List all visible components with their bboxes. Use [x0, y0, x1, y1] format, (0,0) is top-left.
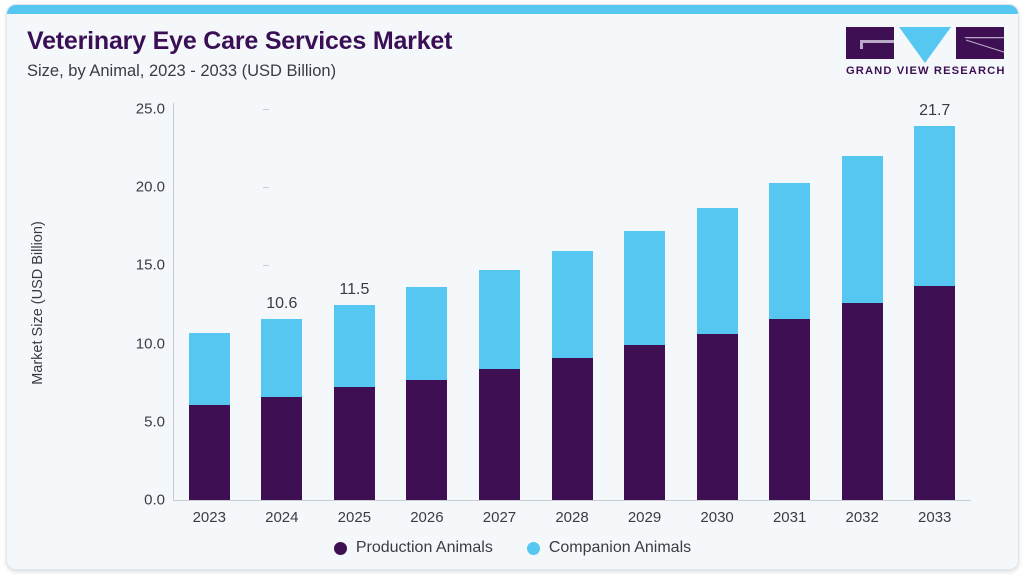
x-axis-tick-label: 2029 — [628, 509, 661, 526]
bar-segment-production-animals[interactable] — [189, 405, 230, 500]
legend-item[interactable]: Companion Animals — [527, 539, 691, 557]
bar-segment-production-animals[interactable] — [842, 303, 883, 500]
y-axis-tick-label: 25.0 — [136, 101, 165, 118]
bar-segment-companion-animals[interactable] — [914, 126, 955, 286]
x-axis-tick-label: 2031 — [773, 509, 806, 526]
y-axis-tick-label: 10.0 — [136, 335, 165, 352]
bar-stack[interactable] — [624, 231, 665, 500]
legend-item[interactable]: Production Animals — [334, 539, 493, 557]
y-axis-tick-mark — [263, 265, 269, 266]
y-axis-line — [173, 103, 174, 501]
bar-segment-companion-animals[interactable] — [334, 305, 375, 388]
bar-value-label: 10.6 — [266, 295, 297, 313]
bar-stack[interactable]: 11.5 — [334, 305, 375, 501]
y-axis-tick-mark — [263, 500, 269, 501]
bar-segment-companion-animals[interactable] — [479, 270, 520, 369]
bar-stack[interactable] — [842, 156, 883, 500]
bar-segment-production-animals[interactable] — [697, 334, 738, 500]
bar-segment-production-animals[interactable] — [769, 319, 810, 500]
x-axis-tick-label: 2032 — [845, 509, 878, 526]
bar-stack[interactable]: 10.6 — [261, 319, 302, 500]
x-axis-tick-label: 2030 — [700, 509, 733, 526]
bar-segment-companion-animals[interactable] — [842, 156, 883, 303]
bar-value-label: 11.5 — [339, 281, 369, 299]
bar-stack[interactable] — [769, 183, 810, 500]
bar-segment-companion-animals[interactable] — [697, 208, 738, 335]
bar-segment-production-animals[interactable] — [624, 345, 665, 500]
bar-value-label: 21.7 — [919, 102, 950, 120]
x-axis-tick-label: 2026 — [410, 509, 443, 526]
x-axis-tick-label: 2023 — [193, 509, 226, 526]
bar-stack[interactable] — [406, 287, 447, 500]
chart-plot-area: Market Size (USD Billion) 0.05.010.015.0… — [7, 5, 1018, 569]
bar-segment-production-animals[interactable] — [261, 397, 302, 500]
y-axis-tick-label: 15.0 — [136, 257, 165, 274]
bar-stack[interactable] — [479, 270, 520, 500]
y-axis-tick-label: 20.0 — [136, 179, 165, 196]
bar-segment-production-animals[interactable] — [406, 380, 447, 500]
chart-legend: Production AnimalsCompanion Animals — [7, 539, 1018, 557]
y-axis-tick-label: 5.0 — [144, 413, 165, 430]
bar-segment-companion-animals[interactable] — [406, 287, 447, 379]
y-axis-title: Market Size (USD Billion) — [30, 153, 46, 453]
x-axis-tick-label: 2028 — [555, 509, 588, 526]
x-axis-tick-label: 2033 — [918, 509, 951, 526]
y-axis-tick-mark — [263, 187, 269, 188]
x-axis-tick-label: 2027 — [483, 509, 516, 526]
legend-marker-icon — [527, 542, 540, 555]
bar-segment-companion-animals[interactable] — [261, 319, 302, 397]
x-axis-line — [173, 500, 971, 501]
bar-segment-production-animals[interactable] — [552, 358, 593, 500]
legend-item-label: Companion Animals — [549, 539, 691, 557]
y-axis-tick-mark — [263, 109, 269, 110]
bar-stack[interactable] — [697, 208, 738, 500]
bar-segment-production-animals[interactable] — [914, 286, 955, 500]
bar-segment-production-animals[interactable] — [334, 387, 375, 500]
x-axis-tick-label: 2025 — [338, 509, 371, 526]
bar-segment-production-animals[interactable] — [479, 369, 520, 500]
y-axis-tick-label: 0.0 — [144, 492, 165, 509]
legend-marker-icon — [334, 542, 347, 555]
bar-segment-companion-animals[interactable] — [189, 333, 230, 405]
bar-segment-companion-animals[interactable] — [552, 251, 593, 357]
bar-stack[interactable] — [189, 333, 230, 500]
x-axis-tick-label: 2024 — [265, 509, 298, 526]
legend-item-label: Production Animals — [356, 539, 493, 557]
bar-segment-companion-animals[interactable] — [624, 231, 665, 345]
bar-stack[interactable] — [552, 251, 593, 500]
bar-stack[interactable]: 21.7 — [914, 126, 955, 500]
chart-card: Veterinary Eye Care Services Market Size… — [6, 4, 1019, 570]
bar-segment-companion-animals[interactable] — [769, 183, 810, 319]
